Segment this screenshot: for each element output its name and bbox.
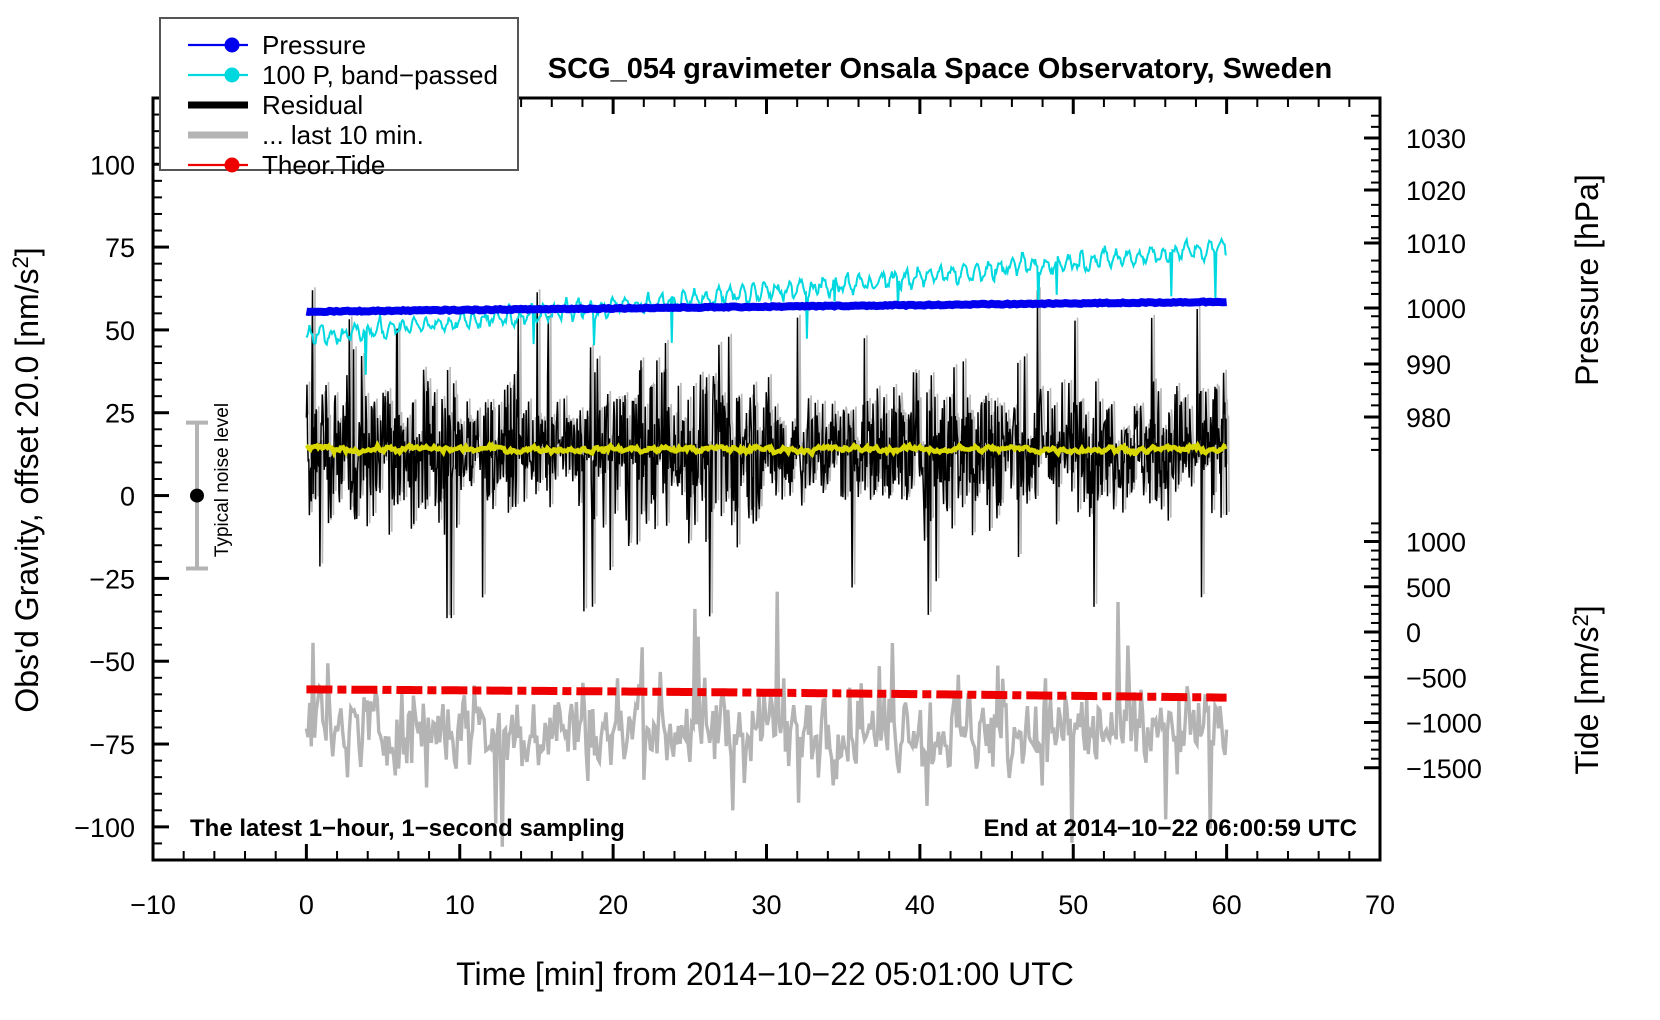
pressure-tick-label: 1010	[1406, 229, 1466, 259]
pressure-tick-label: 990	[1406, 350, 1451, 380]
chart-title: SCG_054 gravimeter Onsala Space Observat…	[548, 53, 1332, 85]
legend-marker-dot	[225, 68, 240, 83]
x-axis-title: Time [min] from 2014−10−22 05:01:00 UTC	[456, 956, 1074, 992]
x-tick-label: 0	[299, 890, 314, 920]
y-tick-label: −100	[74, 813, 135, 843]
gravimeter-plot-page: −10010203040506070 1007550250−25−50−75−1…	[0, 0, 1660, 1020]
tide-tick-label: 500	[1406, 573, 1451, 603]
x-tick-label: 60	[1212, 890, 1242, 920]
tide-tick-label: −500	[1406, 663, 1467, 693]
tide-tick-label: −1500	[1406, 754, 1482, 784]
tide-tick-label: 1000	[1406, 528, 1466, 558]
legend-marker-dot	[225, 158, 240, 173]
pressure-tick-label: 1000	[1406, 294, 1466, 324]
chart-legend: Pressure100 P, band−passedResidual... la…	[160, 18, 518, 180]
x-tick-label: −10	[130, 890, 176, 920]
y-tick-label: −50	[89, 647, 135, 677]
pressure-tick-label: 1030	[1406, 124, 1466, 154]
y-tick-label: −75	[89, 730, 135, 760]
x-tick-label: 30	[751, 890, 781, 920]
legend-label: Theor.Tide	[262, 150, 385, 180]
x-tick-label: 50	[1058, 890, 1088, 920]
noise-center-dot	[190, 489, 204, 503]
noise-level-label: Typical noise level	[212, 403, 233, 557]
tide-axis-title: Tide [nm/s2]	[1568, 605, 1605, 774]
pressure-tick-label: 980	[1406, 403, 1451, 433]
pressure-axis-title: Pressure [hPa]	[1569, 174, 1605, 386]
x-tick-label: 70	[1365, 890, 1395, 920]
legend-label: Residual	[262, 90, 363, 120]
legend-label: Pressure	[262, 30, 366, 60]
tide-tick-label: −1000	[1406, 709, 1482, 739]
legend-label: ... last 10 min.	[262, 120, 424, 150]
gravimeter-chart: −10010203040506070 1007550250−25−50−75−1…	[0, 0, 1660, 1020]
pressure-tick-label: 1020	[1406, 176, 1466, 206]
y-tick-label: 50	[105, 316, 135, 346]
annotation-bottom-right: End at 2014−10−22 06:00:59 UTC	[983, 815, 1357, 842]
x-tick-label: 10	[445, 890, 475, 920]
legend-marker-dot	[225, 38, 240, 53]
y-axis-title: Obs'd Gravity, offset 20.0 [nm/s2]	[8, 247, 45, 712]
y-tick-label: 0	[120, 482, 135, 512]
y-tick-label: −25	[89, 564, 135, 594]
tide-tick-label: 0	[1406, 618, 1421, 648]
y-tick-label: 25	[105, 399, 135, 429]
y-tick-label: 100	[90, 150, 135, 180]
annotation-bottom-left: The latest 1−hour, 1−second sampling	[190, 815, 625, 842]
x-tick-label: 40	[905, 890, 935, 920]
x-tick-label: 20	[598, 890, 628, 920]
legend-label: 100 P, band−passed	[262, 60, 498, 90]
y-tick-label: 75	[105, 233, 135, 263]
